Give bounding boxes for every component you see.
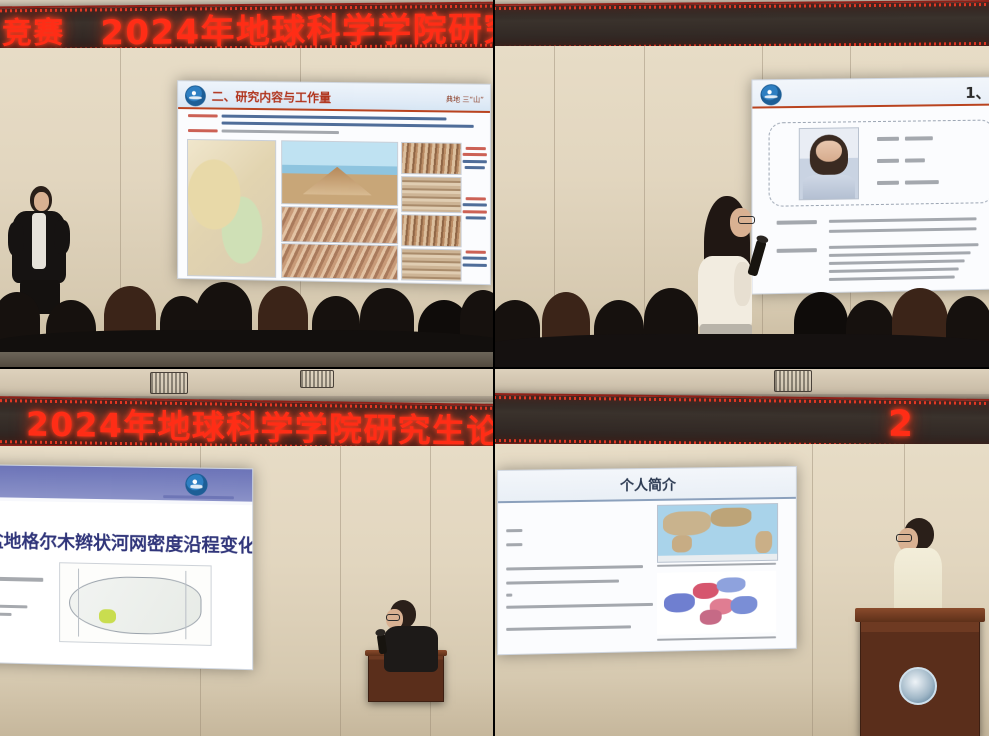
honor-line [829,276,955,281]
panel-bottom-right: 2 个人简介 [494,368,989,736]
ceiling-vent [150,372,188,394]
map-frame-line [78,568,79,637]
annotation-1d [465,166,485,169]
affiliation-line [0,604,27,609]
figure-core-1 [401,142,461,175]
photo-collage: 竞赛 2024年地球科学学院研究生论文报 二、研究内容与工作量 典地 三“山” [0,0,989,736]
annotation-1 [466,147,486,150]
led-banner-top-right [494,0,989,52]
eyeglasses-icon [896,534,912,542]
field-1-value [905,136,933,140]
annotation-1b [463,153,487,156]
slide-personal-intro: 个人简介 [498,467,796,654]
wall-seam [340,446,341,736]
body-line-2 [506,580,619,585]
led-dot-row-top [494,396,989,406]
panel-top-right: 1、 [494,0,989,368]
presenter-bottom-left [382,600,446,672]
collage-seam-horizontal [0,367,989,369]
body-line-1 [222,115,447,121]
presenter-face [34,192,49,211]
basin-region [717,577,746,592]
slide-personal-info: 1、 [752,78,989,294]
presenter-jacket [384,626,438,672]
basin-region [693,583,719,600]
annotation-2 [466,197,486,200]
highlight-area [99,609,115,623]
landmass [672,536,691,553]
field-3-label [877,181,899,185]
annotation-3 [466,250,486,253]
authors-line [0,576,43,582]
basin-region [731,596,757,615]
text-label-2 [506,543,522,546]
body-bullet [506,594,512,597]
slide-river-network: 柴达木盆地格尔木辫状河网密度沿程变化规律 [0,465,252,670]
podium-bottom-right [860,614,980,736]
figure-outcrop-2 [281,243,398,280]
edu-line-2 [829,227,977,233]
body-line-2 [222,122,474,128]
led-dot-row-top [494,3,989,10]
led-banner-text-left: 竞赛 [2,8,64,53]
podium-emblem-icon [899,667,937,705]
field-2-value [905,158,925,162]
field-2-label [877,159,899,163]
annotation-1c [463,160,487,163]
ceiling-vent [300,370,334,388]
presenter-arm-right [54,220,70,254]
slide-title: 二、研究内容与工作量 [212,88,331,106]
figure-core-3 [401,214,461,247]
portrait-body [803,175,854,200]
university-logo-icon [185,85,206,106]
body-label-1 [188,114,218,117]
microphone-icon [747,239,767,276]
slide-research-content: 二、研究内容与工作量 典地 三“山” [178,81,490,284]
desk-row [0,352,494,368]
portrait-photo [799,127,859,200]
figure-world-map [657,503,778,563]
body-label-2 [188,129,218,132]
landmass [711,508,751,528]
figure-caption-2 [657,636,776,641]
presenter-shirt [32,213,46,269]
slide-header [752,78,989,109]
portrait-hair [810,134,848,175]
honor-line [829,251,971,257]
ceiling-vent [774,370,812,392]
basin-outline [69,576,201,635]
landmass [756,531,773,554]
eyeglasses-icon [738,216,755,224]
annotation-2c [463,210,487,213]
annotation-3c [463,263,487,266]
projection-screen-bottom-left: 柴达木盆地格尔木辫状河网密度沿程变化规律 [0,464,253,671]
body-line-4 [506,625,631,631]
projection-screen-bottom-right: 个人简介 [497,466,797,655]
honor-line [829,243,979,249]
figure-china-map [657,571,776,635]
figure-lake-mountain [281,140,398,206]
map-frame-line [185,571,186,640]
slide-title: 柴达木盆地格尔木辫状河网密度沿程变化规律 [0,526,253,559]
affiliation-line-2 [0,611,12,615]
field-1-label [877,137,899,141]
basin-region [664,593,695,612]
annotation-3b [463,256,487,259]
projection-screen-top-left: 二、研究内容与工作量 典地 三“山” [177,80,491,285]
panel-top-left: 竞赛 2024年地球科学学院研究生论文报 二、研究内容与工作量 典地 三“山” [0,0,494,368]
university-logo-icon [760,84,781,105]
figure-caption-1 [657,563,776,567]
annotation-2b [463,203,487,206]
slide-title: 1、 [965,82,989,103]
figure-geologic-map [187,139,276,278]
audience-shoulders [494,334,989,368]
led-banner-top-left: 竞赛 2024年地球科学学院研究生论文报 [0,1,494,54]
basin-region [700,610,721,625]
annotation-2d [466,216,486,219]
honor-line [829,267,959,273]
eyeglasses-icon [386,614,400,621]
led-banner-text: 2 [888,403,915,444]
landmass [663,511,711,536]
university-logo-icon [185,473,207,495]
text-label-1 [506,529,522,532]
body-line-1 [506,565,643,570]
edu-line-1 [829,217,977,223]
figure-river-network [59,562,211,646]
honor-line [829,259,965,265]
figure-core-4 [401,248,461,281]
antarctica [658,554,777,562]
presenter-arm-left [8,222,24,256]
wall-seam [812,444,813,736]
slide-header-right: 典地 三“山” [446,94,484,105]
body-line-3 [222,129,339,134]
field-3-value [905,180,939,185]
led-banner-bottom-right: 2 [494,393,989,452]
figure-core-2 [401,176,461,213]
projection-screen-top-right: 1、 [751,77,989,295]
figure-outcrop [281,206,398,244]
body-line-3 [506,603,653,609]
podium-top [855,608,985,623]
panel-bottom-left: 2024年地球科学学院研究生论文报告竞赛 柴达木盆地格尔木辫状河网密度沿程变化规… [0,368,494,736]
